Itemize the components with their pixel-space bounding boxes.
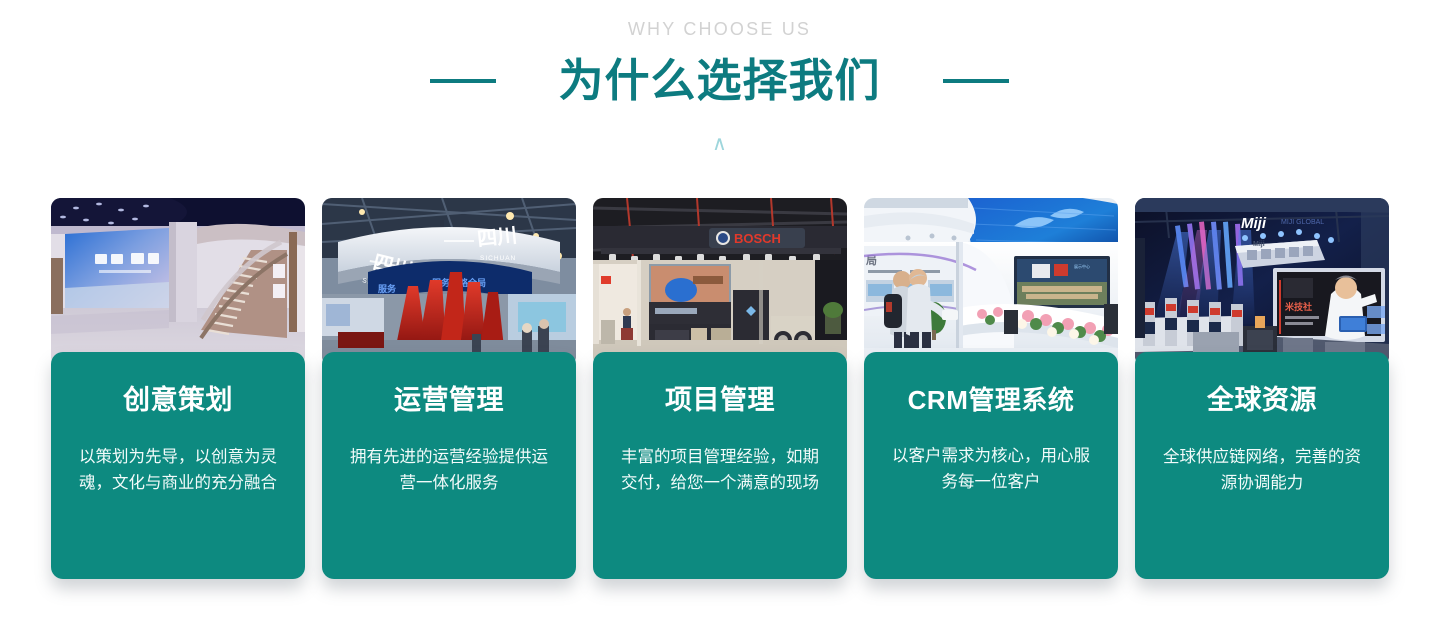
card-title: 运营管理 [394, 386, 504, 416]
card-title: CRM管理系统 [908, 386, 1075, 415]
card-photo-crm-system: 局 [864, 198, 1118, 366]
svg-text:Miji: Miji [1253, 241, 1265, 248]
card-description: 拥有先进的运营经验提供运营一体化服务 [342, 444, 556, 497]
svg-text:MIJI GLOBAL: MIJI GLOBAL [1281, 219, 1324, 226]
why-choose-us-section: WHY CHOOSE US 为什么选择我们 ∧ [0, 0, 1439, 625]
card-title: 项目管理 [665, 386, 775, 416]
svg-text:BOSCH: BOSCH [734, 231, 781, 246]
card-title: 全球资源 [1207, 386, 1317, 416]
card-panel: 运营管理 拥有先进的运营经验提供运营一体化服务 [322, 352, 576, 579]
title-dash-right-icon [943, 79, 1009, 83]
card-title: 创意策划 [123, 386, 233, 416]
feature-card-list: 创意策划 以策划为先导，以创意为灵魂，文化与商业的充分融合 [51, 198, 1389, 579]
feature-card[interactable]: 创意策划 以策划为先导，以创意为灵魂，文化与商业的充分融合 [51, 198, 305, 579]
svg-text:SICHUAN: SICHUAN [480, 255, 516, 262]
feature-card[interactable]: 局 [864, 198, 1118, 579]
section-title-row: 为什么选择我们 [0, 58, 1439, 103]
card-photo-global-resources: Miji MIJI GLOBAL Miji [1135, 198, 1389, 366]
card-description: 全球供应链网络，完善的资源协调能力 [1155, 444, 1369, 497]
svg-text:服务: 服务 [378, 283, 397, 294]
section-eyebrow: WHY CHOOSE US [0, 19, 1439, 40]
svg-text:展示中心: 展示中心 [1074, 263, 1090, 269]
title-dash-left-icon [430, 79, 496, 83]
card-panel: 项目管理 丰富的项目管理经验，如期交付，给您一个满意的现场 [593, 352, 847, 579]
card-photo-project-management: BOSCH [593, 198, 847, 366]
card-description: 以策划为先导，以创意为灵魂，文化与商业的充分融合 [71, 444, 285, 497]
feature-card[interactable]: BOSCH [593, 198, 847, 579]
card-photo-operations-management: 四川 四川 SICHUAN SICHUAN 服务服务战略全局 [322, 198, 576, 366]
card-panel: 创意策划 以策划为先导，以创意为灵魂，文化与商业的充分融合 [51, 352, 305, 579]
card-photo-creative-planning [51, 198, 305, 366]
card-panel: 全球资源 全球供应链网络，完善的资源协调能力 [1135, 352, 1389, 579]
page-title: 为什么选择我们 [558, 58, 880, 103]
card-description: 丰富的项目管理经验，如期交付，给您一个满意的现场 [613, 444, 827, 497]
svg-text:米技社: 米技社 [1284, 301, 1312, 312]
feature-card[interactable]: Miji MIJI GLOBAL Miji [1135, 198, 1389, 579]
feature-card[interactable]: 四川 四川 SICHUAN SICHUAN 服务服务战略全局 [322, 198, 576, 579]
svg-text:Miji: Miji [1241, 215, 1267, 232]
card-panel: CRM管理系统 以客户需求为核心，用心服务每一位客户 [864, 352, 1118, 579]
card-description: 以客户需求为核心，用心服务每一位客户 [884, 443, 1098, 496]
chevron-up-icon: ∧ [0, 134, 1439, 154]
svg-text:四川: 四川 [476, 225, 518, 251]
